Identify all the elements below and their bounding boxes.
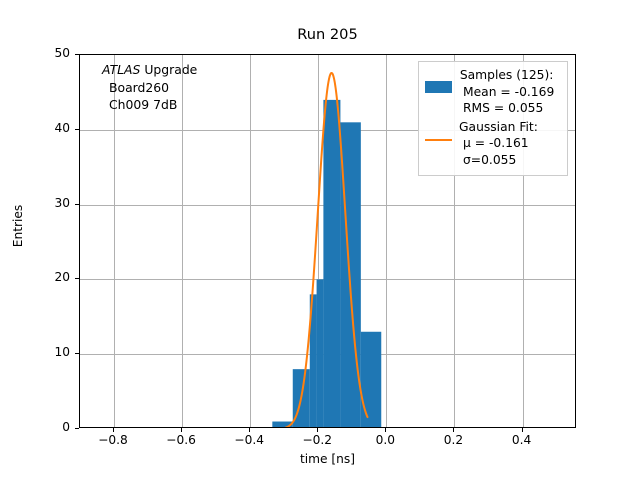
- x-tick-mark: [453, 428, 454, 432]
- annotation-line-3: Ch009 7dB: [102, 96, 197, 114]
- legend-text-samples: Samples (125): Mean = -0.169 RMS = 0.055: [459, 67, 554, 117]
- x-tick-label: 0.0: [355, 433, 415, 447]
- x-tick-mark: [113, 428, 114, 432]
- atlas-label: ATLAS: [102, 62, 140, 77]
- annotation-line-2: Board260: [102, 79, 197, 97]
- y-tick-label: 30: [28, 196, 70, 210]
- histogram-bar: [323, 100, 340, 428]
- y-tick-label: 20: [28, 270, 70, 284]
- legend-entry-samples: Samples (125): Mean = -0.169 RMS = 0.055: [425, 67, 561, 117]
- legend-patch-handle: [425, 67, 452, 93]
- y-tick-mark: [75, 204, 79, 205]
- histogram-bars: [272, 100, 381, 428]
- legend-samples-header: Samples (125):: [459, 67, 554, 84]
- x-tick-label: −0.8: [83, 433, 143, 447]
- y-tick-mark: [75, 428, 79, 429]
- legend-text-fit: Gaussian Fit: μ = -0.161 σ=0.055: [459, 119, 538, 169]
- y-tick-mark: [75, 54, 79, 55]
- x-tick-label: 0.4: [492, 433, 552, 447]
- y-tick-mark: [75, 278, 79, 279]
- legend-fit-header: Gaussian Fit:: [459, 119, 538, 136]
- chart-figure: Run 205 −0.8−0.6−0.4−0.20.00.20.4 010203…: [0, 0, 640, 480]
- histogram-bar: [361, 332, 381, 428]
- upgrade-label: Upgrade: [140, 62, 197, 77]
- chart-legend: Samples (125): Mean = -0.169 RMS = 0.055…: [418, 61, 568, 176]
- y-tick-mark: [75, 129, 79, 130]
- y-tick-label: 0: [28, 420, 70, 434]
- fit-color-swatch: [425, 139, 452, 141]
- x-tick-mark: [181, 428, 182, 432]
- legend-fit-mu: μ = -0.161: [459, 135, 538, 152]
- y-tick-label: 40: [28, 121, 70, 135]
- legend-samples-mean: Mean = -0.169: [459, 84, 554, 101]
- x-tick-label: −0.2: [287, 433, 347, 447]
- x-tick-mark: [249, 428, 250, 432]
- x-tick-mark: [317, 428, 318, 432]
- y-tick-label: 10: [28, 345, 70, 359]
- x-tick-label: 0.2: [423, 433, 483, 447]
- x-tick-label: −0.4: [219, 433, 279, 447]
- x-tick-label: −0.6: [151, 433, 211, 447]
- x-tick-mark: [522, 428, 523, 432]
- x-tick-mark: [385, 428, 386, 432]
- atlas-annotation: ATLAS Upgrade Board260 Ch009 7dB: [102, 61, 197, 114]
- histogram-bar: [340, 122, 360, 428]
- legend-fit-sigma: σ=0.055: [459, 152, 538, 169]
- y-tick-mark: [75, 353, 79, 354]
- y-axis-label: Entries: [11, 146, 25, 306]
- legend-line-handle: [425, 119, 452, 141]
- annotation-line-1: ATLAS Upgrade: [102, 61, 197, 79]
- histogram-bar: [317, 279, 324, 428]
- legend-entry-fit: Gaussian Fit: μ = -0.161 σ=0.055: [425, 119, 561, 169]
- y-tick-label: 50: [28, 46, 70, 60]
- legend-samples-rms: RMS = 0.055: [459, 100, 554, 117]
- x-axis-label: time [ns]: [79, 452, 576, 466]
- chart-title: Run 205: [79, 27, 576, 43]
- samples-color-swatch: [425, 81, 452, 93]
